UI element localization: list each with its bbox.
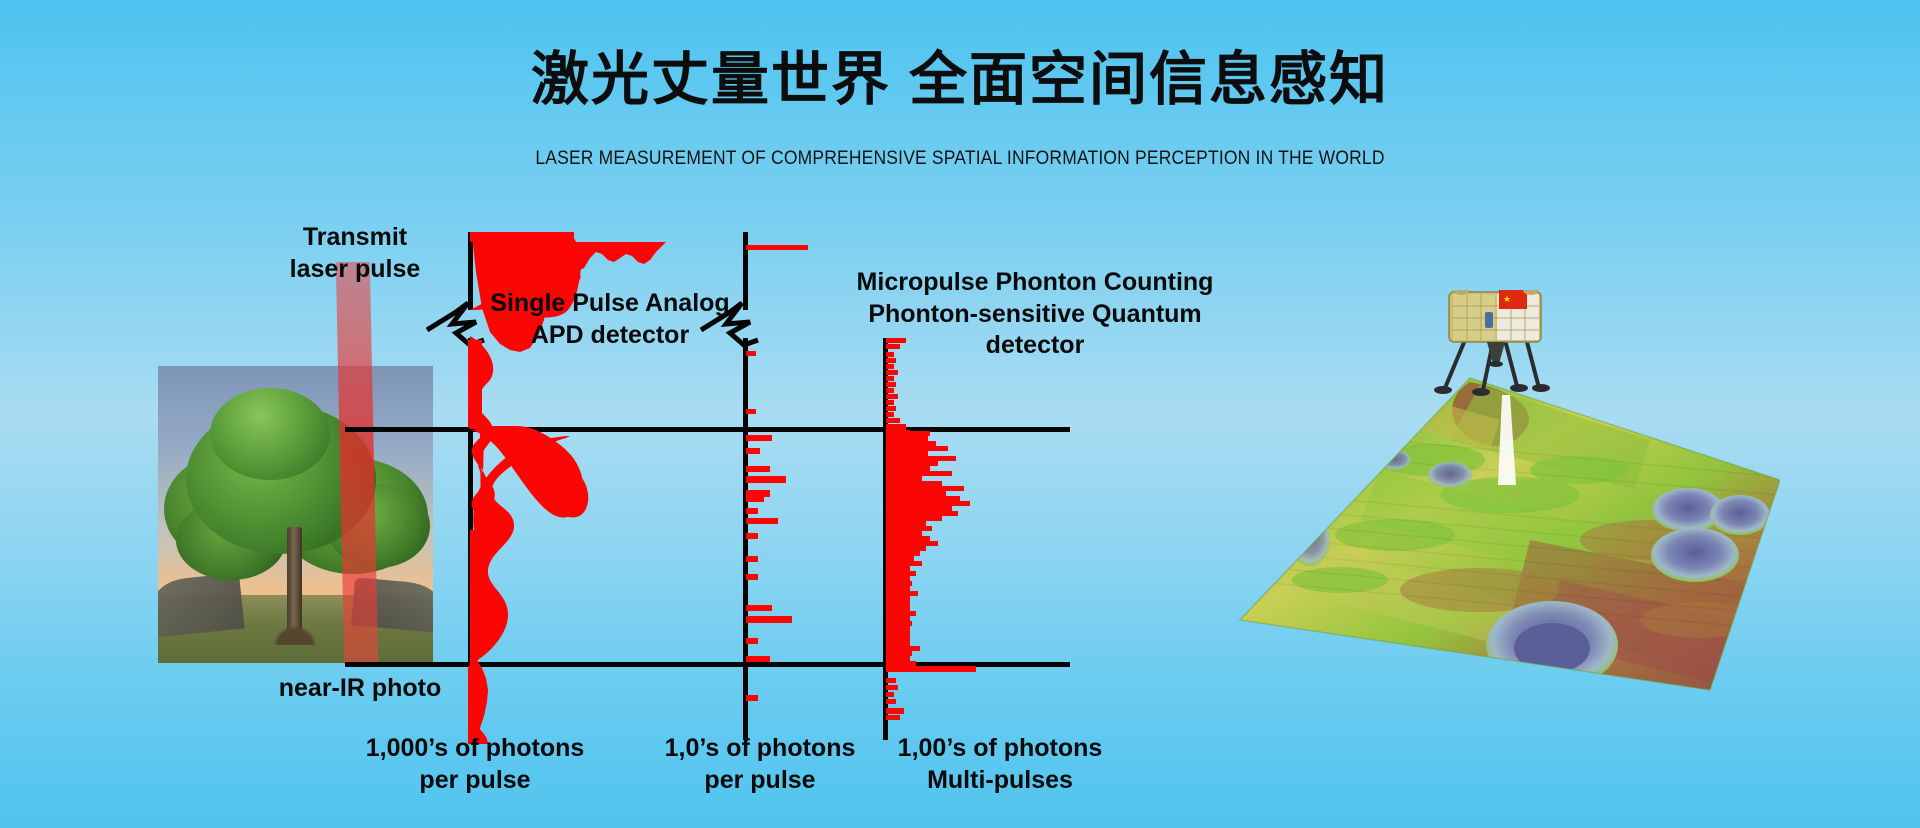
dense-photon-counting-mass	[886, 430, 926, 664]
crater	[1290, 514, 1330, 566]
near-ir-tree-photo	[158, 366, 433, 663]
footer-caption-analog: 1,000’s of photons per pulse	[330, 733, 620, 796]
lunar-lander-icon: ★	[1434, 290, 1550, 396]
page-title: 激光丈量世界 全面空间信息感知	[0, 48, 1920, 112]
svg-text:★: ★	[1503, 294, 1511, 304]
colorized-dem-terrain: ★	[1180, 290, 1780, 710]
crater	[1428, 462, 1472, 488]
footer-caption-dense: 1,00’s of photons Multi-pulses	[860, 733, 1140, 796]
photo-stone-wall-left	[158, 573, 245, 638]
crater	[1379, 450, 1411, 470]
transmit-laser-pulse-label: Transmit laser pulse	[245, 222, 465, 285]
page-subtitle: LASER MEASUREMENT OF COMPREHENSIVE SPATI…	[77, 148, 1843, 170]
crater	[1651, 528, 1739, 582]
infographic-canvas: 激光丈量世界 全面空间信息感知 LASER MEASUREMENT OF COM…	[0, 0, 1920, 828]
near-ir-photo-label: near-IR photo	[235, 673, 485, 705]
photo-tree-canopy	[210, 388, 330, 480]
laser-beam-icon	[336, 262, 378, 664]
photo-tree-trunk	[287, 527, 302, 645]
crater	[1710, 495, 1770, 535]
apd-detector-label: Single Pulse Analog APD detector	[460, 288, 760, 351]
footer-caption-sparse: 1,0’s of photons per pulse	[625, 733, 895, 796]
